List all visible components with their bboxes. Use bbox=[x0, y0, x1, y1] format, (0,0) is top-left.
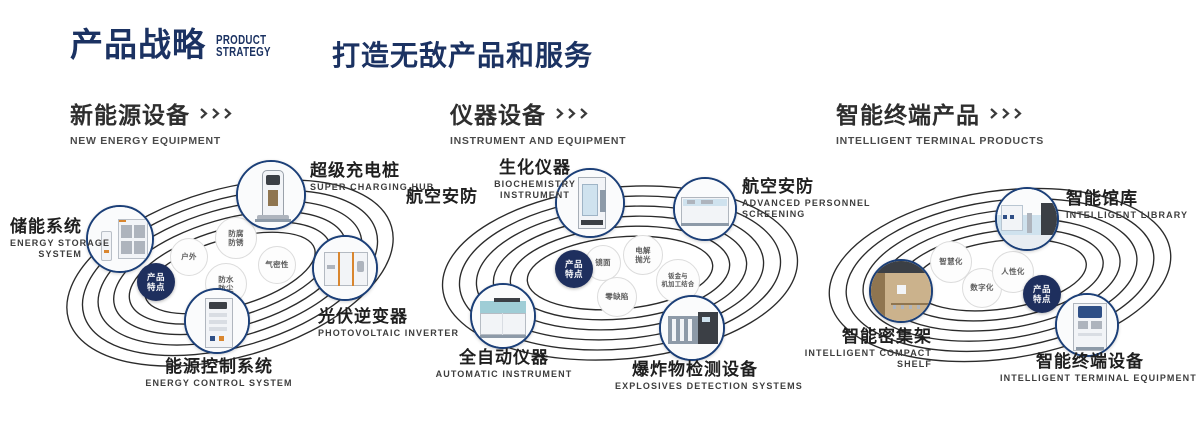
node-self-service-kiosk[interactable] bbox=[1055, 293, 1119, 357]
section-title-cn: 新能源设备 bbox=[70, 96, 190, 130]
feature-bubble-label: 零缺陷 bbox=[605, 292, 628, 301]
node-ev-charging-pile[interactable] bbox=[236, 160, 306, 230]
badge-label-line1: 产品 bbox=[147, 272, 165, 282]
automatic-instrument-photo bbox=[472, 285, 534, 347]
node-caption-biochemistry: 生化仪器 BIOCHEMISTRY INSTRUMENT bbox=[470, 158, 600, 202]
badge-label-line2: 特点 bbox=[147, 282, 165, 292]
page-title: 产品战略 PRODUCT STRATEGY bbox=[70, 28, 286, 61]
node-caption-en-line1: INTELLIGENT TERMINAL EQUIPMENT bbox=[1000, 373, 1180, 384]
badge-label-line2: 特点 bbox=[1033, 294, 1051, 304]
side-label-aviation-security: 航空安防 bbox=[398, 187, 478, 206]
section-heading-new-energy: 新能源设备 NEW ENERGY EQUIPMENT bbox=[70, 96, 234, 147]
section-title-cn: 智能终端产品 bbox=[836, 96, 980, 130]
badge-label-line2: 特点 bbox=[565, 269, 583, 279]
node-caption-cn: 智能馆库 bbox=[1066, 189, 1188, 208]
node-caption-en-line1: INTELLIGENT COMPACT bbox=[802, 348, 932, 359]
node-caption-cn: 超级充电桩 bbox=[310, 161, 434, 180]
node-intelligent-library[interactable] bbox=[995, 187, 1059, 251]
node-caption-en-line2: SYSTEM bbox=[10, 249, 82, 260]
chevron-right-triple-icon bbox=[555, 108, 590, 119]
feature-bubble-label: 户外 bbox=[181, 252, 197, 261]
feature-bubble-label: 气密性 bbox=[265, 260, 288, 269]
cluster-instrument: 航空安防 镜面 电解 抛光 钣金与 机加工结合 零缺陷 产品 特点 bbox=[420, 155, 820, 385]
cluster-intelligent-terminal: 智慧化 数字化 人性化 产品 特点 bbox=[810, 155, 1200, 385]
section-title-en: INSTRUMENT AND EQUIPMENT bbox=[450, 135, 626, 147]
product-feature-badge: 产品 特点 bbox=[555, 250, 593, 288]
page-title-en: PRODUCT STRATEGY bbox=[216, 34, 271, 60]
node-caption-automatic-instrument: 全自动仪器 AUTOMATIC INSTRUMENT bbox=[430, 348, 578, 380]
node-automatic-instrument[interactable] bbox=[470, 283, 536, 349]
security-screening-machine-photo bbox=[675, 179, 735, 239]
feature-bubble-label: 防腐 防锈 bbox=[228, 229, 244, 247]
energy-control-cabinet-photo bbox=[186, 290, 248, 352]
page-title-en-line1: PRODUCT bbox=[216, 34, 271, 47]
pv-inverter-photo bbox=[314, 237, 376, 299]
compact-shelf-photo bbox=[871, 261, 931, 321]
node-caption-cn: 储能系统 bbox=[10, 217, 82, 236]
feature-bubble: 户外 bbox=[170, 238, 208, 276]
node-caption-terminal-equipment: 智能终端设备 INTELLIGENT TERMINAL EQUIPMENT bbox=[1000, 352, 1180, 384]
node-caption-en-line2: INSTRUMENT bbox=[470, 190, 600, 201]
node-caption-intelligent-library: 智能馆库 INTELLIGENT LIBRARY bbox=[1066, 189, 1188, 221]
product-strategy-infographic: 产品战略 PRODUCT STRATEGY 打造无敌产品和服务 新能源设备 NE… bbox=[0, 0, 1200, 422]
node-caption-explosives-detection: 爆炸物检测设备 EXPLOSIVES DETECTION SYSTEMS bbox=[615, 360, 775, 392]
feature-bubble-label: 镜面 bbox=[595, 258, 611, 267]
node-caption-cn: 智能终端设备 bbox=[1000, 352, 1180, 371]
node-caption-compact-shelf: 智能密集架 INTELLIGENT COMPACT SHELF bbox=[802, 327, 932, 371]
node-caption-cn: 生化仪器 bbox=[470, 158, 600, 177]
node-security-screening[interactable] bbox=[673, 177, 737, 241]
tagline: 打造无敌产品和服务 bbox=[332, 34, 593, 74]
node-caption-cn: 全自动仪器 bbox=[430, 348, 578, 367]
feature-bubble-label: 数字化 bbox=[970, 283, 993, 292]
page-title-en-line2: STRATEGY bbox=[216, 46, 271, 59]
product-feature-badge: 产品 特点 bbox=[1023, 275, 1061, 313]
badge-label-line1: 产品 bbox=[1033, 284, 1051, 294]
feature-bubble-label: 人性化 bbox=[1001, 267, 1024, 276]
node-caption-cn: 爆炸物检测设备 bbox=[615, 360, 775, 379]
side-label-cn: 航空安防 bbox=[398, 187, 478, 206]
explosives-detector-photo bbox=[661, 297, 723, 359]
node-caption-en-line1: BIOCHEMISTRY bbox=[470, 179, 600, 190]
feature-bubble-label: 智慧化 bbox=[939, 257, 962, 266]
section-title-en: INTELLIGENT TERMINAL PRODUCTS bbox=[836, 135, 1044, 147]
feature-bubble: 气密性 bbox=[258, 246, 296, 284]
cluster-new-energy: 户外 防腐 防锈 防水 防尘 气密性 产品 特点 bbox=[40, 155, 420, 385]
node-caption-en-line1: AUTOMATIC INSTRUMENT bbox=[430, 369, 578, 380]
self-service-kiosk-photo bbox=[1057, 295, 1117, 355]
node-compact-shelf[interactable] bbox=[869, 259, 933, 323]
node-caption-en-line1: EXPLOSIVES DETECTION SYSTEMS bbox=[615, 381, 775, 392]
feature-bubble-label: 钣金与 机加工结合 bbox=[662, 273, 695, 288]
intelligent-library-photo bbox=[997, 189, 1057, 249]
node-caption-en-line1: ENERGY STORAGE bbox=[10, 238, 82, 249]
node-caption-en-line1: INTELLIGENT LIBRARY bbox=[1066, 210, 1188, 221]
node-caption-energy-control: 能源控制系统 ENERGY CONTROL SYSTEM bbox=[84, 357, 354, 389]
feature-bubble-label: 电解 抛光 bbox=[635, 246, 651, 264]
node-caption-cn: 智能密集架 bbox=[802, 327, 932, 346]
chevron-right-triple-icon bbox=[989, 108, 1024, 119]
badge-label-line1: 产品 bbox=[565, 259, 583, 269]
section-heading-intelligent-terminal: 智能终端产品 INTELLIGENT TERMINAL PRODUCTS bbox=[836, 96, 1044, 147]
node-pv-inverter[interactable] bbox=[312, 235, 378, 301]
section-title-cn: 仪器设备 bbox=[450, 96, 546, 130]
node-caption-cn: 能源控制系统 bbox=[84, 357, 354, 376]
node-caption-energy-storage: 储能系统 ENERGY STORAGE SYSTEM bbox=[10, 217, 82, 261]
node-caption-en-line2: SHELF bbox=[802, 359, 932, 370]
section-title-en: NEW ENERGY EQUIPMENT bbox=[70, 135, 234, 147]
node-energy-control-cabinet[interactable] bbox=[184, 288, 250, 354]
chevron-right-triple-icon bbox=[199, 108, 234, 119]
feature-bubble: 零缺陷 bbox=[597, 277, 637, 317]
ev-charging-pile-photo bbox=[238, 162, 304, 228]
section-heading-instrument: 仪器设备 INSTRUMENT AND EQUIPMENT bbox=[450, 96, 626, 147]
node-explosives-detector[interactable] bbox=[659, 295, 725, 361]
node-caption-en-line1: ENERGY CONTROL SYSTEM bbox=[84, 378, 354, 389]
page-title-cn: 产品战略 bbox=[70, 28, 206, 61]
feature-bubble: 电解 抛光 bbox=[623, 235, 663, 275]
